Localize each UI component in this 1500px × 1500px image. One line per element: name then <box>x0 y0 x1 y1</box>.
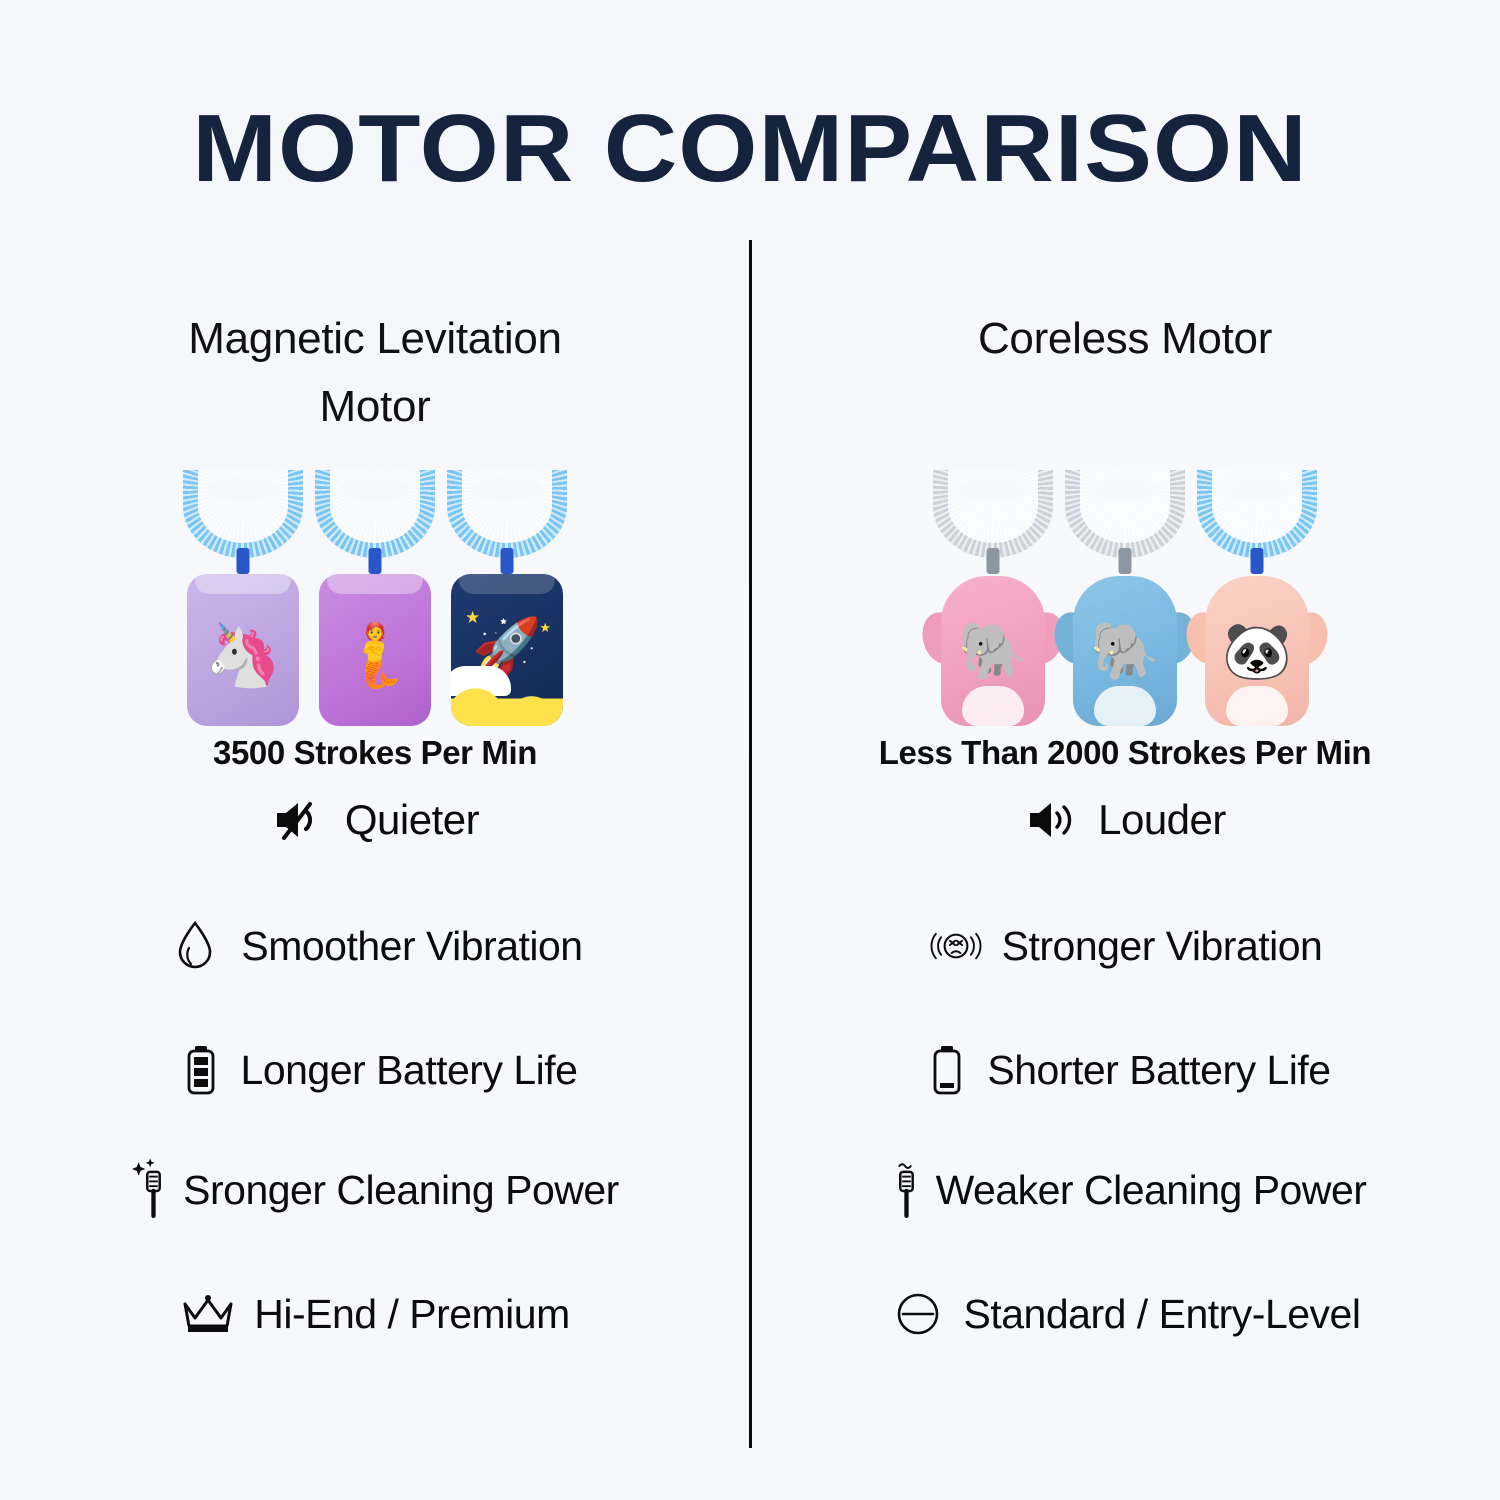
speaker-mute-icon <box>271 792 327 848</box>
feature-stronger-cleaning: Sronger Cleaning Power <box>0 1162 750 1218</box>
feature-smoother-vibration: Smoother Vibration <box>0 918 750 974</box>
feature-label: Standard / Entry-Level <box>964 1291 1361 1338</box>
feature-quieter: Quieter <box>0 792 750 848</box>
u-brush-head-icon <box>933 470 1053 558</box>
column-heading-coreless: Coreless Motor <box>750 305 1500 373</box>
unicorn-art: 🦄 <box>187 574 299 726</box>
feature-label: Sronger Cleaning Power <box>183 1167 619 1214</box>
feature-label: Longer Battery Life <box>241 1047 578 1094</box>
unicorn-toothbrush-image: 🦄 <box>180 470 306 726</box>
feature-weaker-cleaning: Weaker Cleaning Power <box>750 1162 1500 1218</box>
rocket-toothbrush-image: ★ ★ 🚀 <box>444 470 570 726</box>
strokes-per-min-coreless: Less Than 2000 Strokes Per Min <box>750 734 1500 772</box>
shaking-face-icon <box>928 918 984 974</box>
mermaid-handle: 🧜 <box>319 574 431 726</box>
pink-elephant-toothbrush-image: 🐘 <box>930 470 1056 726</box>
product-images-coreless: 🐘 🐘 <box>750 468 1500 726</box>
feature-shorter-battery: Shorter Battery Life <box>750 1042 1500 1098</box>
pink-elephant-handle: 🐘 <box>931 576 1055 726</box>
feature-hi-end-premium: Hi-End / Premium <box>0 1286 750 1342</box>
column-coreless: Coreless Motor 🐘 <box>750 0 1500 1500</box>
strokes-per-min-magnetic: 3500 Strokes Per Min <box>0 734 750 772</box>
feature-longer-battery: Longer Battery Life <box>0 1042 750 1098</box>
u-brush-head-icon <box>1065 470 1185 558</box>
rocket-handle: ★ ★ 🚀 <box>451 574 563 726</box>
motor-comparison-infographic: MOTOR COMPARISON Magnetic Levitation Mot… <box>0 0 1500 1500</box>
feature-label: Smoother Vibration <box>241 923 582 970</box>
peach-panda-toothbrush-image: 🐼 <box>1194 470 1320 726</box>
u-brush-head-icon <box>183 470 303 558</box>
mermaid-art: 🧜 <box>319 574 431 726</box>
feature-louder: Louder <box>750 792 1500 848</box>
feature-label: Hi-End / Premium <box>254 1291 570 1338</box>
feature-label: Stronger Vibration <box>1002 923 1323 970</box>
peach-panda-handle: 🐼 <box>1195 576 1319 726</box>
toothbrush-icon <box>884 1162 928 1218</box>
blue-elephant-toothbrush-image: 🐘 <box>1062 470 1188 726</box>
rocket-art: ★ ★ 🚀 <box>451 574 563 726</box>
feature-label: Louder <box>1098 796 1226 844</box>
speaker-loud-icon <box>1024 792 1080 848</box>
crown-icon <box>180 1286 236 1342</box>
u-brush-head-icon <box>447 470 567 558</box>
column-heading-line1: Coreless Motor <box>750 305 1500 373</box>
product-images-magnetic: 🦄 🧜 <box>0 468 750 726</box>
feature-label: Weaker Cleaning Power <box>936 1167 1367 1214</box>
water-drop-icon <box>167 918 223 974</box>
blue-elephant-handle: 🐘 <box>1063 576 1187 726</box>
column-heading-line1: Magnetic Levitation <box>0 305 750 373</box>
column-heading-magnetic: Magnetic Levitation Motor <box>0 305 750 441</box>
battery-low-icon <box>919 1042 975 1098</box>
feature-label: Quieter <box>345 796 479 844</box>
toothbrush-sparkle-icon <box>131 1162 175 1218</box>
u-brush-head-icon <box>315 470 435 558</box>
column-heading-line2: Motor <box>0 373 750 441</box>
minus-circle-icon <box>890 1286 946 1342</box>
feature-standard-entry-level: Standard / Entry-Level <box>750 1286 1500 1342</box>
u-brush-head-icon <box>1197 470 1317 558</box>
feature-label: Shorter Battery Life <box>987 1047 1330 1094</box>
feature-stronger-vibration: Stronger Vibration <box>750 918 1500 974</box>
mermaid-toothbrush-image: 🧜 <box>312 470 438 726</box>
battery-full-icon <box>173 1042 229 1098</box>
unicorn-handle: 🦄 <box>187 574 299 726</box>
column-magnetic-levitation: Magnetic Levitation Motor 🦄 <box>0 0 750 1500</box>
